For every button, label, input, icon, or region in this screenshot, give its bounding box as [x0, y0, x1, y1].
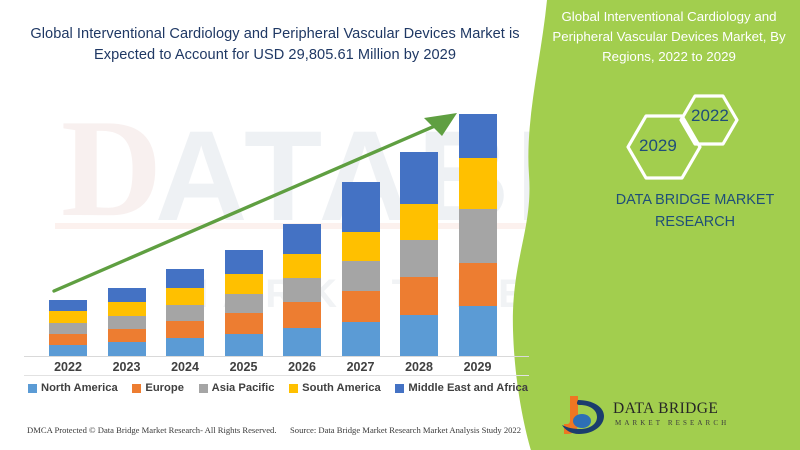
legend-item-europe[interactable]: Europe	[132, 382, 184, 394]
bar-segment[interactable]	[108, 342, 146, 356]
x-axis-label-2024: 2024	[155, 360, 215, 374]
bar-segment[interactable]	[108, 316, 146, 329]
bar-segment[interactable]	[108, 288, 146, 302]
bar-segment[interactable]	[459, 158, 497, 209]
logo-name-text: DATA BRIDGE	[613, 400, 718, 418]
bar-segment[interactable]	[108, 329, 146, 342]
bar-segment[interactable]	[225, 250, 263, 274]
data-bridge-logo: DATA BRIDGE MARKET RESEARCH	[560, 394, 790, 442]
legend-item-north-america[interactable]: North America	[28, 382, 118, 394]
brand-name-text: DATA BRIDGE MARKET RESEARCH	[590, 190, 800, 233]
bar-segment[interactable]	[166, 305, 204, 321]
bar-segment[interactable]	[400, 152, 438, 204]
bar-group-2027[interactable]	[342, 182, 380, 356]
bar-segment[interactable]	[283, 254, 321, 278]
bar-group-2024[interactable]	[166, 269, 204, 356]
hexagon-2029-label: 2029	[639, 136, 677, 156]
bar-group-2022[interactable]	[49, 300, 87, 356]
footer-dmca-text: DMCA Protected © Data Bridge Market Rese…	[27, 425, 277, 435]
bar-segment[interactable]	[342, 322, 380, 356]
legend-swatch-icon	[28, 384, 37, 393]
bar-segment[interactable]	[166, 288, 204, 305]
bar-segment[interactable]	[400, 277, 438, 315]
bar-segment[interactable]	[342, 291, 380, 322]
bar-segment[interactable]	[49, 300, 87, 311]
legend-swatch-icon	[289, 384, 298, 393]
legend-item-south-america[interactable]: South America	[289, 382, 381, 394]
legend-divider	[24, 375, 529, 376]
bar-segment[interactable]	[400, 240, 438, 277]
bar-segment[interactable]	[342, 261, 380, 291]
x-axis-label-2022: 2022	[38, 360, 98, 374]
legend-item-middle-east-and-africa[interactable]: Middle East and Africa	[395, 382, 528, 394]
bar-group-2026[interactable]	[283, 224, 321, 356]
legend-item-asia-pacific[interactable]: Asia Pacific	[199, 382, 275, 394]
data-bridge-b-logo-icon	[560, 394, 610, 440]
bar-segment[interactable]	[459, 114, 497, 158]
bar-segment[interactable]	[166, 338, 204, 356]
legend-swatch-icon	[199, 384, 208, 393]
bar-group-2028[interactable]	[400, 152, 438, 356]
legend-label: South America	[302, 382, 381, 394]
bar-segment[interactable]	[283, 328, 321, 356]
bar-segment[interactable]	[166, 269, 204, 288]
bar-group-2025[interactable]	[225, 250, 263, 356]
legend-label: North America	[41, 382, 118, 394]
bar-group-2023[interactable]	[108, 288, 146, 356]
bar-segment[interactable]	[49, 345, 87, 356]
bar-segment[interactable]	[283, 224, 321, 254]
infographic-root: D ATABRI DGE MARKET RESEARCH 20222023202…	[0, 0, 800, 450]
page-title: Global Interventional Cardiology and Per…	[30, 24, 520, 65]
panel-title: Global Interventional Cardiology and Per…	[544, 7, 794, 68]
x-axis-label-2023: 2023	[97, 360, 157, 374]
chart-baseline	[24, 356, 529, 357]
bar-segment[interactable]	[225, 313, 263, 334]
bar-group-2029[interactable]	[459, 114, 497, 356]
bar-segment[interactable]	[108, 302, 146, 316]
footer-source-text: Source: Data Bridge Market Research Mark…	[290, 425, 521, 435]
bar-segment[interactable]	[225, 274, 263, 294]
chart-legend: North AmericaEuropeAsia PacificSouth Ame…	[28, 382, 528, 394]
x-axis-label-2025: 2025	[214, 360, 274, 374]
bar-segment[interactable]	[49, 311, 87, 323]
bar-segment[interactable]	[225, 294, 263, 313]
bar-segment[interactable]	[283, 302, 321, 328]
bar-segment[interactable]	[400, 315, 438, 356]
x-axis-label-2026: 2026	[272, 360, 332, 374]
bar-segment[interactable]	[459, 209, 497, 263]
legend-label: Asia Pacific	[212, 382, 275, 394]
x-axis-label-2027: 2027	[331, 360, 391, 374]
bar-segment[interactable]	[342, 182, 380, 232]
hexagon-2022-label: 2022	[691, 106, 729, 126]
bar-segment[interactable]	[49, 334, 87, 345]
bar-segment[interactable]	[166, 321, 204, 338]
legend-swatch-icon	[132, 384, 141, 393]
bar-segment[interactable]	[342, 232, 380, 261]
logo-subtitle-text: MARKET RESEARCH	[615, 419, 729, 427]
bar-segment[interactable]	[459, 306, 497, 356]
legend-label: Middle East and Africa	[408, 382, 528, 394]
bar-segment[interactable]	[283, 278, 321, 302]
bar-segment[interactable]	[459, 263, 497, 306]
x-axis-label-2028: 2028	[389, 360, 449, 374]
bar-segment[interactable]	[49, 323, 87, 334]
legend-label: Europe	[145, 382, 184, 394]
x-axis-label-2029: 2029	[448, 360, 508, 374]
bar-segment[interactable]	[400, 204, 438, 240]
legend-swatch-icon	[395, 384, 404, 393]
bar-segment[interactable]	[225, 334, 263, 356]
